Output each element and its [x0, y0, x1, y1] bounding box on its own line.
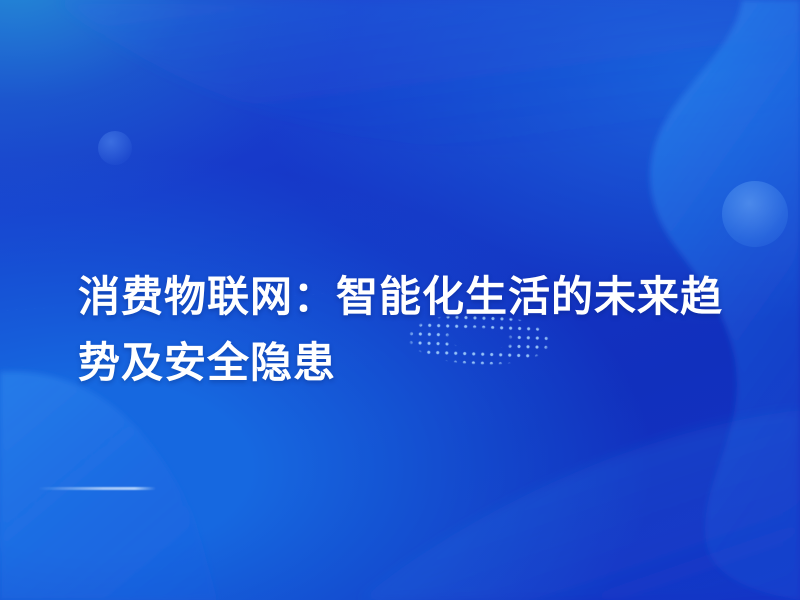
bottom-left-blob-shape: [0, 372, 217, 600]
light-streak-line: [38, 487, 156, 490]
accent-circle-left-icon: [98, 131, 132, 165]
accent-circle-right-icon: [722, 181, 788, 247]
promotional-banner: 消费物联网：智能化生活的未来趋势及安全隐患: [0, 0, 800, 600]
banner-headline: 消费物联网：智能化生活的未来趋势及安全隐患: [78, 264, 728, 396]
top-sweep-shape: [60, 0, 800, 158]
bottom-sweep-shape: [360, 410, 800, 600]
